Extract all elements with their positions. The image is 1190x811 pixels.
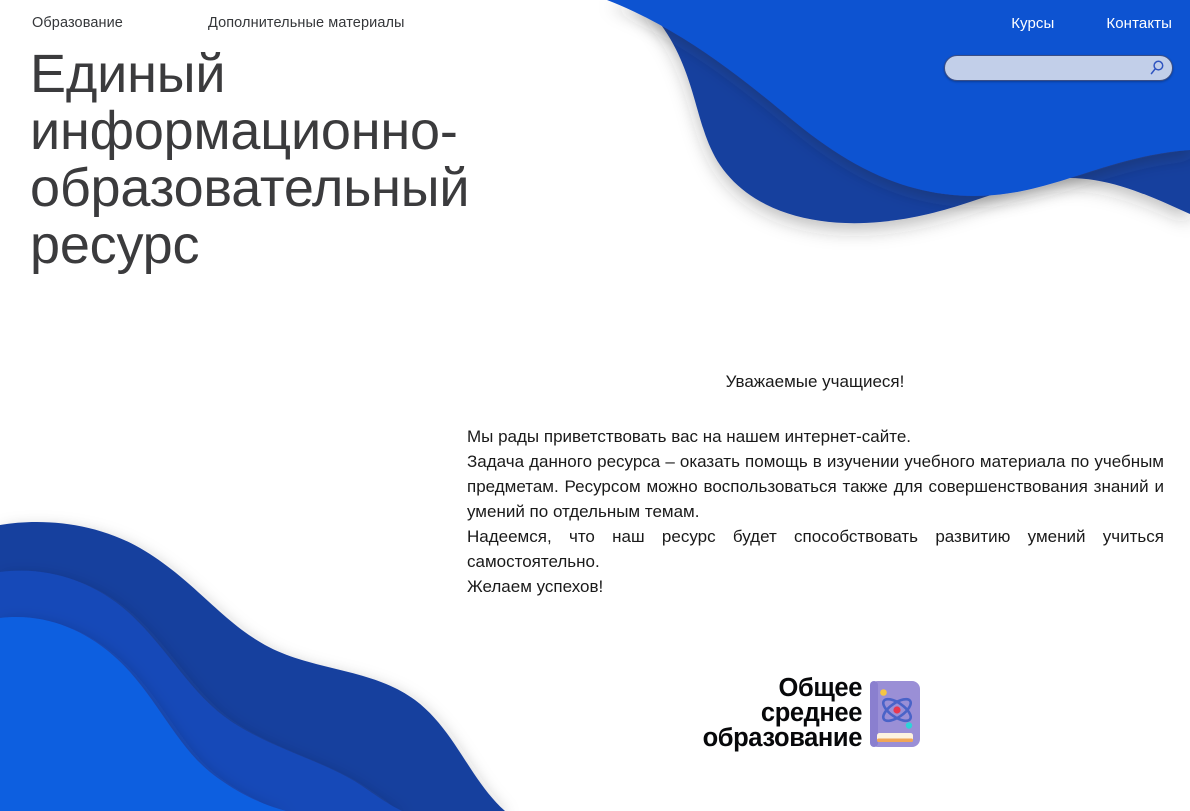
welcome-paragraph-4: Желаем успехов!	[467, 574, 1164, 599]
top-navigation: Образование Дополнительные материалы Кур…	[0, 0, 1190, 44]
book-atom-icon	[868, 679, 922, 749]
wave-top-dark-lower	[720, 165, 1190, 304]
nav-right-group: Курсы Контакты	[1011, 15, 1172, 32]
logo-line-2: среднее	[703, 701, 862, 726]
welcome-text: Мы рады приветствовать вас на нашем инте…	[467, 424, 1164, 599]
greeting-line: Уважаемые учащиеся!	[467, 372, 1163, 392]
logo-line-3: образование	[703, 726, 862, 751]
page-title: Единый информационно-образовательный рес…	[30, 46, 590, 274]
welcome-paragraph-2: Задача данного ресурса – оказать помощь …	[467, 449, 1164, 524]
page-root: Образование Дополнительные материалы Кур…	[0, 0, 1190, 811]
nav-link-courses[interactable]: Курсы	[1011, 15, 1054, 32]
wave-bottom-dark	[0, 522, 505, 811]
nav-link-education[interactable]: Образование	[32, 15, 123, 31]
logo-text: Общее среднее образование	[703, 676, 862, 751]
logo-line-1: Общее	[703, 676, 862, 701]
search-icon	[1148, 59, 1166, 77]
welcome-paragraph-3: Надеемся, что наш ресурс будет способств…	[467, 524, 1164, 574]
wave-bottom-mid	[0, 571, 402, 811]
wave-bottom-bright	[0, 617, 286, 811]
search-input[interactable]	[944, 55, 1173, 81]
welcome-paragraph-1: Мы рады приветствовать вас на нашем инте…	[467, 424, 1164, 449]
search-box	[944, 55, 1173, 81]
search-submit-button[interactable]	[1148, 59, 1166, 77]
nav-link-contacts[interactable]: Контакты	[1106, 15, 1172, 32]
nav-left-group: Образование Дополнительные материалы	[32, 15, 405, 31]
nav-link-additional-materials[interactable]: Дополнительные материалы	[208, 15, 405, 31]
logo[interactable]: Общее среднее образование	[660, 676, 922, 751]
